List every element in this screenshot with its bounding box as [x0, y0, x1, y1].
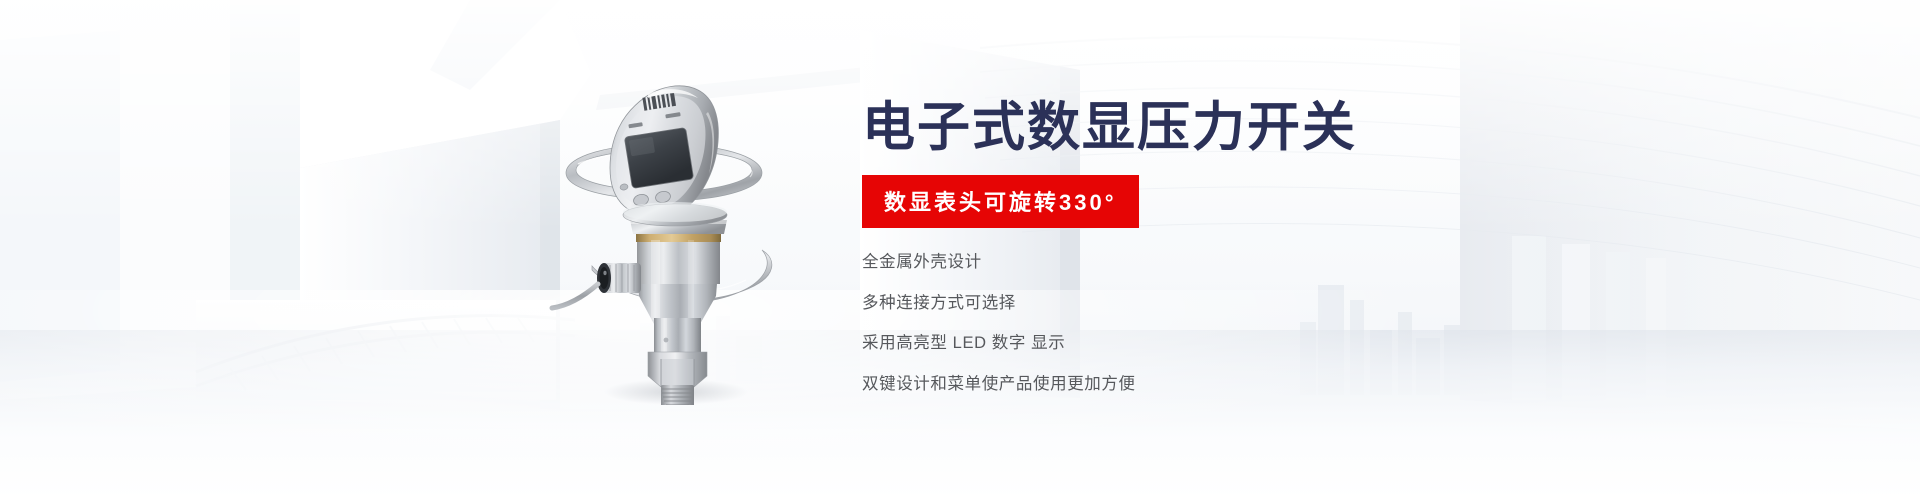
page-title: 电子式数显压力开关 [862, 100, 1682, 156]
lcd-screen [624, 127, 693, 188]
product-image [548, 60, 798, 405]
threaded-process-connection [661, 385, 694, 405]
copy-block: 电子式数显压力开关 数显表头可旋转330° 全金属外壳设计 多种连接方式可选择 … [862, 100, 1682, 408]
feature-item-1: 全金属外壳设计 [862, 254, 1682, 271]
feature-item-4: 双键设计和菜单使产品使用更加方便 [862, 376, 1682, 393]
m12-connector [597, 263, 641, 293]
feature-item-3: 采用高亮型 LED 数字 显示 [862, 335, 1682, 352]
lower-neck [654, 318, 701, 356]
highlight-ribbon: 数显表头可旋转330° [862, 175, 1139, 228]
connector-cable [552, 284, 598, 308]
product-body [630, 220, 727, 324]
feature-item-2: 多种连接方式可选择 [862, 295, 1682, 312]
feature-list: 全金属外壳设计 多种连接方式可选择 采用高亮型 LED 数字 显示 双键设计和菜… [862, 254, 1682, 392]
hex-nut [648, 352, 707, 387]
head-base-ring [623, 202, 727, 226]
product-banner: 电子式数显压力开关 数显表头可旋转330° 全金属外壳设计 多种连接方式可选择 … [0, 0, 1920, 500]
